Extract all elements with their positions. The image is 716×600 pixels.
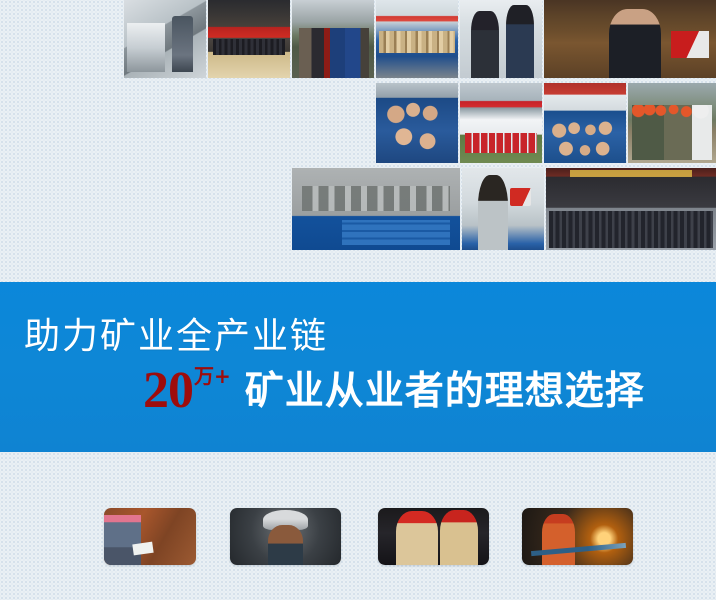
photo-miners-outdoors-mountain — [292, 0, 374, 78]
photo-executive-portrait-flag — [544, 0, 716, 78]
promo-page: 助力矿业全产业链 20 万+ 矿业从业者的理想选择 — [0, 0, 716, 600]
thumb-smiling-miner[interactable] — [230, 508, 341, 565]
photo-processing-plant-crew — [544, 83, 626, 163]
thumb-female-workers[interactable] — [378, 508, 489, 565]
banner-headline: 助力矿业全产业链 — [24, 316, 328, 358]
member-count-unit: 万+ — [194, 366, 231, 386]
thumbnail-strip — [0, 452, 716, 600]
photo-hardhat-crowd-van — [628, 83, 716, 163]
photo-worker-with-flag — [462, 168, 544, 250]
photo-collage — [0, 0, 716, 266]
thumb-foundry-worker[interactable] — [522, 508, 633, 565]
photo-flotation-equipment — [376, 0, 458, 78]
banner-subheadline: 20 万+ 矿业从业者的理想选择 — [143, 366, 645, 416]
photo-blue-uniform-team — [376, 83, 458, 163]
photo-award-ceremony-stage — [208, 0, 290, 78]
photo-lab-equipment-operator — [124, 0, 206, 78]
photo-company-signage — [292, 168, 460, 250]
photo-lab-sample-testing — [460, 0, 542, 78]
photo-company-banner-group — [460, 83, 542, 163]
photo-industry-conference-group — [546, 168, 716, 250]
banner-tagline: 矿业从业者的理想选择 — [245, 371, 645, 413]
member-count-number: 20 — [143, 366, 193, 416]
thumb-field-geologist[interactable] — [104, 508, 196, 565]
